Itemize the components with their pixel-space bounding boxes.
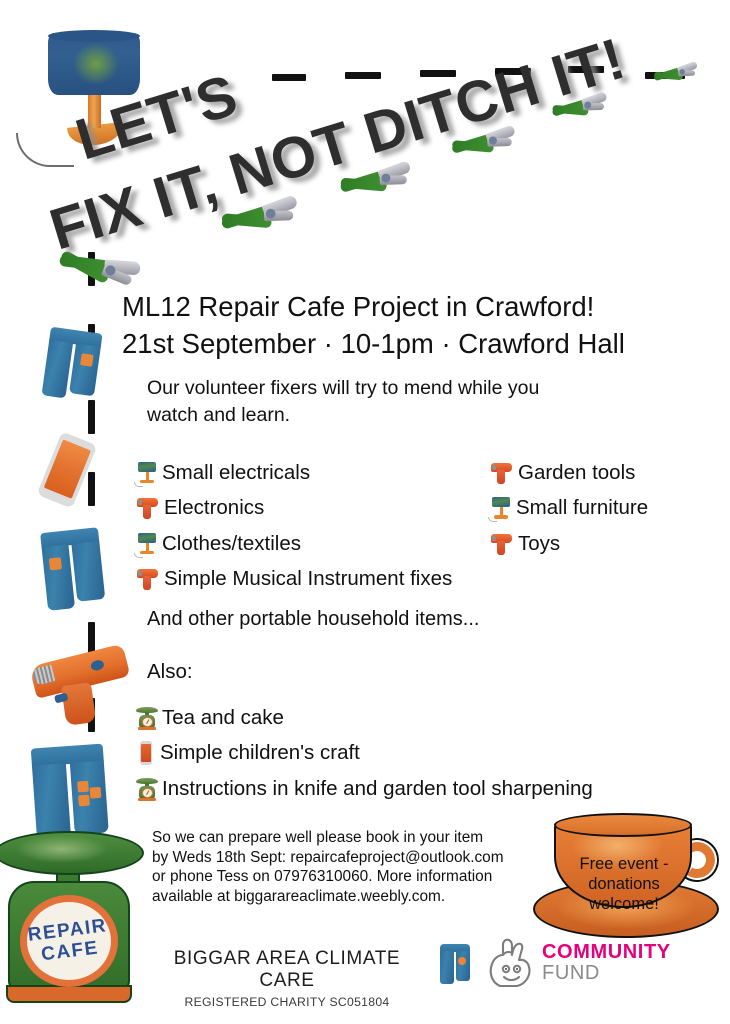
list-item-label: Simple Musical Instrument fixes: [164, 567, 452, 591]
list-item-label: Toys: [518, 532, 560, 556]
crossed-fingers-icon: [486, 936, 538, 993]
also-heading: Also:: [147, 660, 193, 684]
community-fund-logo: COMMUNITY FUND: [486, 936, 701, 994]
event-title-block: ML12 Repair Cafe Project in Crawford! 21…: [122, 288, 625, 362]
accepted-items-column-right: Garden tools Small furniture Toys: [490, 455, 648, 562]
booking-line-1: So we can prepare well please book in yo…: [152, 828, 542, 848]
free-event-line-1: Free event -: [563, 854, 685, 874]
repair-cafe-logo-dial: REPAIR CAFE: [20, 895, 118, 987]
jeans-icon: [440, 944, 470, 984]
list-item: Small electricals: [136, 455, 452, 491]
free-event-line-3: welcome!: [563, 894, 685, 914]
organisation-footer: BIGGAR AREA CLIMATE CARE REGISTERED CHAR…: [152, 948, 422, 1009]
lamp-icon: [136, 531, 158, 557]
booking-instructions: So we can prepare well please book in yo…: [152, 828, 542, 906]
list-item: Simple children's craft: [136, 736, 593, 772]
lamp-icon: [136, 460, 158, 486]
list-item-label: Garden tools: [518, 461, 635, 485]
poster-canvas: LET'S FIX IT, NOT DITCH IT! ML12 Repair …: [0, 0, 730, 1024]
drill-icon: [490, 531, 514, 557]
lamp-icon: [490, 495, 512, 521]
list-item-label: Clothes/textiles: [162, 532, 301, 556]
drill-icon: [136, 566, 160, 592]
free-event-line-2: donations: [563, 874, 685, 894]
event-datetime-venue: 21st September · 10-1pm · Crawford Hall: [122, 325, 625, 362]
community-fund-line-2: FUND: [542, 963, 671, 984]
repair-cafe-scale-logo: REPAIR CAFE: [0, 823, 146, 1013]
list-item-label: Small furniture: [516, 496, 648, 520]
power-drill-illustration: [22, 636, 148, 740]
phone-icon: [136, 740, 156, 766]
dashed-line-segment: [88, 472, 95, 506]
list-item-label: Simple children's craft: [160, 741, 360, 765]
organisation-name: BIGGAR AREA CLIMATE CARE: [152, 948, 422, 992]
list-item-label: Electronics: [164, 496, 264, 520]
charity-number: REGISTERED CHARITY SC051804: [152, 995, 422, 1009]
jeans-illustration: [40, 527, 106, 611]
list-item: Electronics: [136, 491, 452, 527]
also-items-list: Tea and cake Simple children's craft Ins…: [136, 700, 593, 807]
kitchen-scale-icon: [136, 705, 158, 731]
booking-line-3: or phone Tess on 07976310060. More infor…: [152, 867, 542, 887]
pruning-shears-illustration: [652, 61, 699, 88]
list-item: Small furniture: [490, 491, 648, 527]
list-item: Clothes/textiles: [136, 526, 452, 562]
teacup-badge: Free event - donations welcome!: [533, 818, 729, 946]
drill-icon: [490, 460, 514, 486]
lamp-shade: [48, 33, 140, 95]
booking-line-2: by Weds 18th Sept: repaircafeproject@out…: [152, 848, 542, 868]
drill-icon: [136, 495, 160, 521]
booking-line-4: available at biggarareaclimate.weebly.co…: [152, 887, 542, 907]
jeans-illustration: [41, 327, 102, 404]
list-item: Simple Musical Instrument fixes: [136, 562, 452, 598]
list-item: Garden tools: [490, 455, 648, 491]
event-title: ML12 Repair Cafe Project in Crawford!: [122, 288, 625, 325]
free-event-text: Free event - donations welcome!: [563, 854, 685, 914]
list-item-label: Instructions in knife and garden tool sh…: [162, 777, 593, 801]
community-fund-wordmark: COMMUNITY FUND: [542, 942, 671, 984]
list-item: Tea and cake: [136, 700, 593, 736]
accepted-items-column-left: Small electricals Electronics Clothes/te…: [136, 455, 452, 597]
kitchen-scale-icon: [136, 776, 158, 802]
lamp-shade-top: [48, 30, 140, 42]
other-items-note: And other portable household items...: [147, 608, 479, 631]
cup-rim: [554, 813, 692, 837]
dashed-line-segment: [88, 400, 95, 434]
dashed-line-segment: [345, 72, 381, 79]
community-fund-line-1: COMMUNITY: [542, 942, 671, 963]
list-item: Instructions in knife and garden tool sh…: [136, 771, 593, 807]
intro-paragraph: Our volunteer fixers will try to mend wh…: [147, 375, 587, 429]
dashed-line-segment: [272, 74, 306, 81]
lamp-cord: [16, 133, 74, 167]
list-item-label: Small electricals: [162, 461, 310, 485]
list-item-label: Tea and cake: [162, 706, 284, 730]
list-item: Toys: [490, 526, 648, 562]
